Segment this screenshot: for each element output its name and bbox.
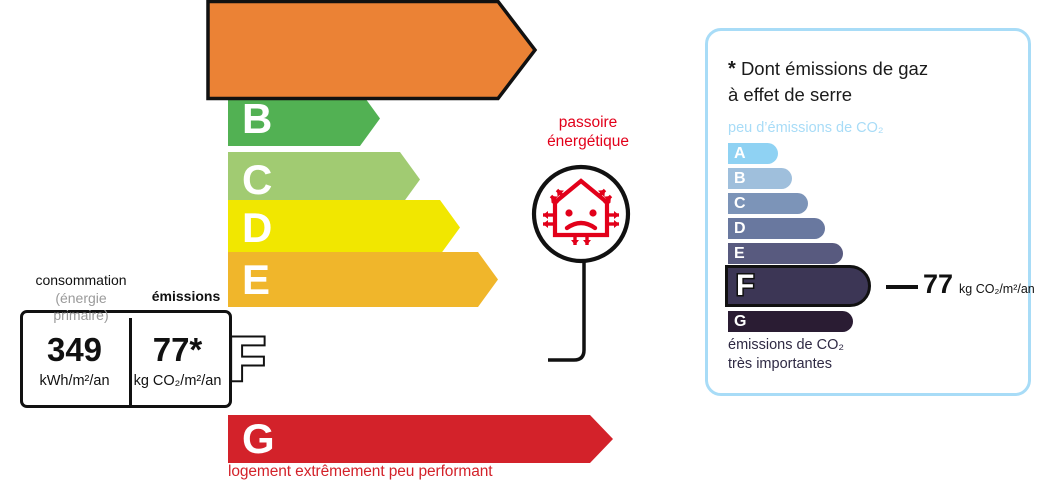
co2-bar-c: C [728,193,808,214]
consumption-cell: 349 kWh/m²/an [23,313,126,405]
energy-bar-d-letter: D [242,200,272,255]
co2-bar-a-letter: A [734,143,746,164]
dpe-energy-label: logement extrêmement performant A B C [0,0,1059,488]
co2-bar-b: B [728,168,792,189]
energy-bar-c-letter: C [242,152,272,207]
energy-bar-f-letter: F [228,310,266,410]
energy-bar-d: D [228,200,460,255]
emissions-label: émissions [140,288,232,304]
emissions-value: 77* [153,333,203,366]
energy-performance-chart: logement extrêmement performant A B C [0,0,700,488]
energy-bottom-caption: logement extrêmement peu performant [228,463,492,481]
energy-bar-c: C [228,152,420,207]
passoire-label-line1: passoire [559,114,618,131]
co2-bar-d-letter: D [734,218,746,239]
co2-bar-c-letter: C [734,193,746,214]
passoire-connector-line [540,258,600,368]
co2-bar-b-letter: B [734,168,746,189]
co2-bar-e-letter: E [734,243,745,264]
co2-bar-g: G [728,311,853,332]
co2-panel-title: * Dont émissions de gaz à effet de serre [728,57,928,106]
co2-bar-e: E [728,243,843,264]
co2-bar-a: A [728,143,778,164]
co2-unit: kg CO₂/m²/an [959,283,1035,296]
co2-bar-f: F [725,265,871,307]
co2-bottom-caption: émissions de CO₂ très importantes [728,336,844,374]
consumption-label: consommation (énergie primaire) [27,272,135,325]
emissions-unit: kg CO₂/m²/an [134,373,222,389]
co2-title-star: * [728,58,736,80]
co2-bar-f-letter: F [736,268,754,304]
co2-value-group: 77 kg CO₂/m²/an [923,271,1035,298]
energy-bar-f [208,0,538,100]
co2-top-caption: peu d’émissions de CO₂ [728,120,884,136]
passoire-energetique-label: passoire énergétique [528,114,648,151]
consumption-label-line1: consommation [35,272,126,288]
energy-bar-g: G [228,415,613,470]
co2-value: 77 [923,271,953,298]
consumption-value: 349 [47,333,102,366]
co2-value-leader-line [886,285,918,289]
energy-bar-g-letter: G [242,415,275,463]
sad-house-icon [531,164,631,264]
passoire-label-line2: énergétique [547,133,629,150]
consumption-label-line2: (énergie primaire) [53,290,108,324]
co2-bar-d: D [728,218,825,239]
co2-bar-g-letter: G [734,311,746,332]
co2-title-text: Dont émissions de gaz à effet de serre [728,58,928,105]
energy-bar-e-letter: E [242,252,270,307]
energy-value-box: 349 kWh/m²/an 77* kg CO₂/m²/an [20,310,232,408]
emissions-cell: 77* kg CO₂/m²/an [126,313,229,405]
consumption-unit: kWh/m²/an [39,373,109,389]
energy-bar-e: E [228,252,498,307]
co2-emissions-panel: * Dont émissions de gaz à effet de serre… [705,28,1031,396]
